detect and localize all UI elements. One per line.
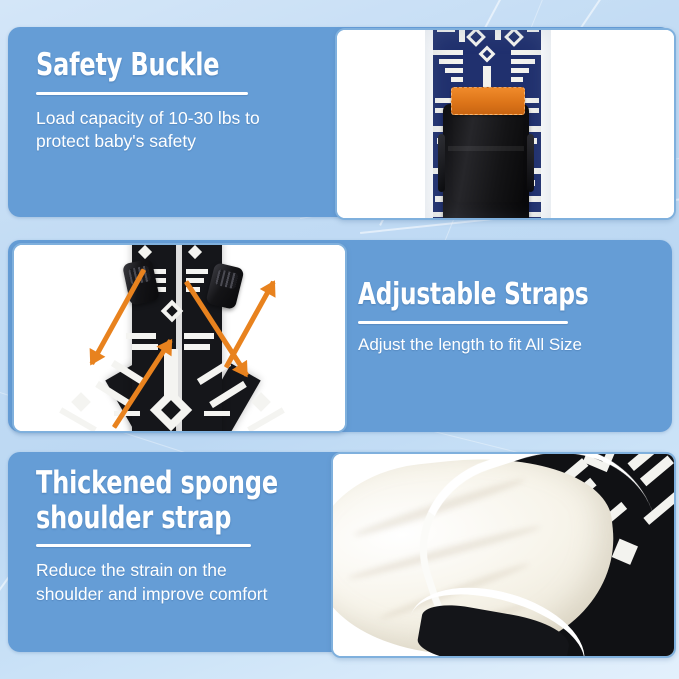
feature-description: Adjust the length to fit All Size [358, 334, 668, 357]
infographic-canvas: Safety Buckle Load capacity of 10-30 lbs… [0, 0, 679, 679]
feature-description: Reduce the strain on the shoulder and im… [36, 559, 336, 606]
feature-text-adjustable-straps: Adjustable Straps Adjust the length to f… [358, 278, 668, 356]
feature-photo-safety-buckle [335, 28, 676, 220]
title-underline-rule [36, 92, 248, 95]
title-underline-rule [36, 544, 251, 547]
feature-title: Thickened sponge shoulder strap [36, 466, 294, 535]
photo-straps-with-arrows [14, 245, 345, 431]
photo-buckle [337, 30, 674, 218]
side-release-buckle [443, 104, 529, 220]
feature-description: Load capacity of 10-30 lbs to protect ba… [36, 107, 336, 154]
feature-photo-adjustable-straps [12, 243, 347, 433]
feature-title: Safety Buckle [36, 48, 294, 83]
orange-leather-tab [451, 87, 525, 115]
photo-padded-strap [333, 454, 674, 656]
feature-text-thickened-sponge: Thickened sponge shoulder strap Reduce t… [36, 466, 336, 606]
feature-title: Adjustable Straps [358, 278, 625, 312]
feature-photo-thickened-sponge [331, 452, 676, 658]
feature-text-safety-buckle: Safety Buckle Load capacity of 10-30 lbs… [36, 48, 336, 153]
title-underline-rule [358, 321, 568, 324]
